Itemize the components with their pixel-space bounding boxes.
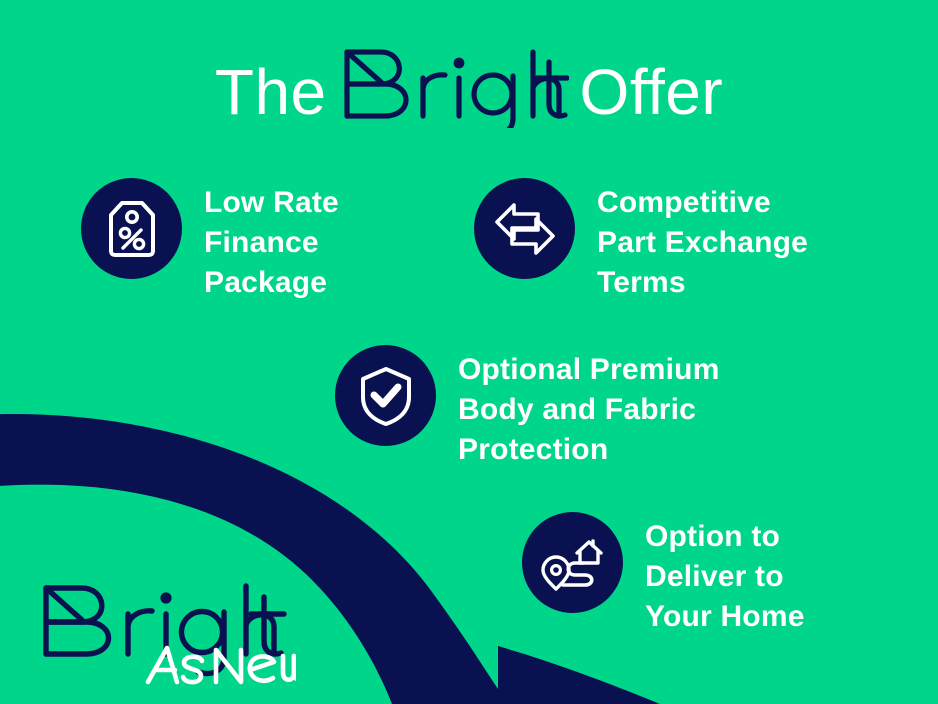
feature-icon-badge — [81, 178, 182, 279]
headline-suffix: Offer — [580, 60, 724, 124]
bright-wordmark-headline — [337, 44, 569, 133]
delivery-route-home-icon — [541, 533, 605, 593]
feature-label: Option to Deliver to Your Home — [645, 512, 805, 637]
feature-item-part-exchange: Competitive Part Exchange Terms — [474, 178, 808, 303]
feature-label: Competitive Part Exchange Terms — [597, 178, 808, 303]
feature-icon-badge — [335, 345, 436, 446]
page-title: The — [0, 44, 938, 133]
feature-item-protection: Optional Premium Body and Fabric Protect… — [335, 345, 720, 470]
feature-icon-badge — [474, 178, 575, 279]
exchange-arrows-icon — [494, 200, 556, 258]
feature-label: Optional Premium Body and Fabric Protect… — [458, 345, 720, 470]
brand-logo-lockup — [36, 578, 296, 693]
letter-i-dot — [454, 58, 465, 69]
bright-offer-poster: The — [0, 0, 938, 704]
feature-icon-badge — [522, 512, 623, 613]
headline-prefix: The — [215, 60, 327, 124]
letter-i-dot — [160, 592, 171, 603]
feature-item-home-delivery: Option to Deliver to Your Home — [522, 512, 805, 637]
feature-item-low-rate-finance: Low Rate Finance Package — [81, 178, 339, 303]
shield-check-icon — [358, 365, 414, 427]
brand-wedge-shape — [498, 646, 660, 704]
price-tag-percent-icon — [105, 199, 159, 259]
feature-label: Low Rate Finance Package — [204, 178, 339, 303]
